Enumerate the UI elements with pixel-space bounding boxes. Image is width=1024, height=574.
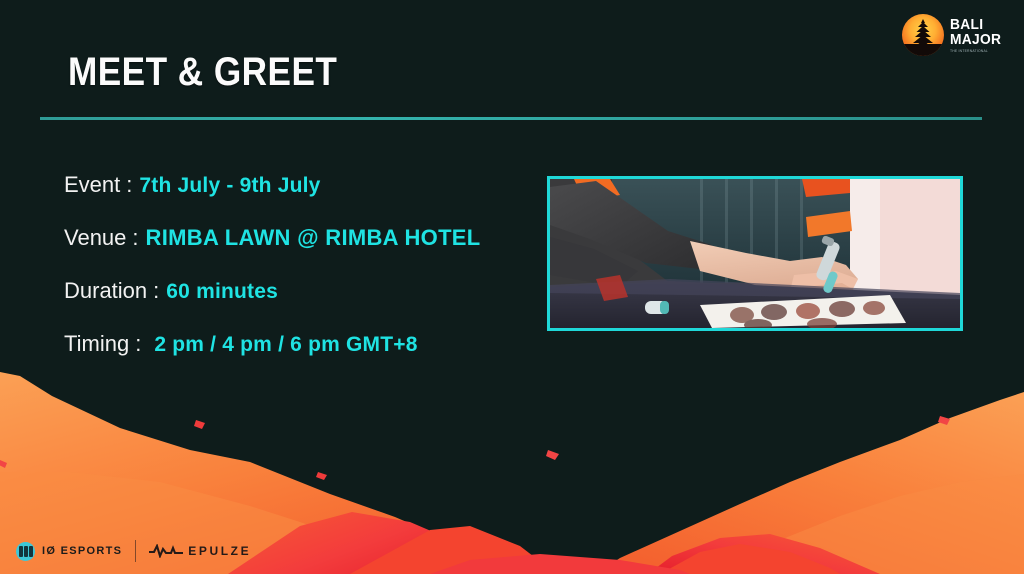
page-title: MEET & GREET (68, 50, 337, 95)
info-label-venue: Venue (64, 225, 126, 251)
info-row-venue: Venue : RIMBA LAWN @ RIMBA HOTEL (64, 225, 534, 251)
brand-line-2: MAJOR (950, 32, 1001, 47)
info-row-timing: Timing : 2 pm / 4 pm / 6 pm GMT+8 (64, 331, 534, 357)
info-row-event: Event : 7th July - 9th July (64, 172, 534, 198)
meet-and-greet-photo (547, 176, 963, 331)
info-separator-timing: : (135, 331, 141, 357)
emblem-base-bar (902, 44, 944, 56)
photo-illustration (550, 179, 960, 328)
info-value-duration: 60 minutes (166, 280, 278, 304)
brand-wordmark: BALI MAJOR THE INTERNATIONAL (950, 17, 1006, 53)
info-label-duration: Duration (64, 278, 147, 304)
io-esports-icon (16, 542, 35, 561)
io-esports-label: IØ ESPORTS (42, 545, 122, 557)
bali-major-logo: BALI MAJOR THE INTERNATIONAL (902, 12, 1006, 58)
pulse-wave-icon (149, 544, 183, 558)
slide-root: MEET & GREET BALI MAJOR THE INTERNATIONA… (0, 0, 1024, 574)
io-esports-logo: IØ ESPORTS (16, 542, 122, 561)
marker-cap-icon (645, 301, 669, 314)
info-label-event: Event (64, 172, 120, 198)
info-value-timing: 2 pm / 4 pm / 6 pm GMT+8 (154, 333, 417, 357)
info-separator-venue: : (132, 225, 138, 251)
brand-subtitle: THE INTERNATIONAL (950, 50, 1006, 53)
info-separator-event: : (126, 172, 132, 198)
epulze-label: EPULZE (188, 544, 251, 558)
footer-divider (135, 540, 136, 562)
event-info-list: Event : 7th July - 9th July Venue : RIMB… (64, 172, 534, 384)
epulze-logo: EPULZE (149, 544, 251, 558)
title-divider-rule (40, 117, 982, 120)
info-value-event: 7th July - 9th July (139, 174, 320, 198)
info-row-duration: Duration : 60 minutes (64, 278, 534, 304)
info-separator-duration: : (153, 278, 159, 304)
info-label-timing: Timing (64, 331, 129, 357)
brand-line-1: BALI (950, 17, 1001, 32)
footer-logos: IØ ESPORTS EPULZE (16, 538, 251, 564)
bali-sun-temple-emblem-icon (902, 14, 944, 56)
info-value-venue: RIMBA LAWN @ RIMBA HOTEL (146, 225, 481, 251)
